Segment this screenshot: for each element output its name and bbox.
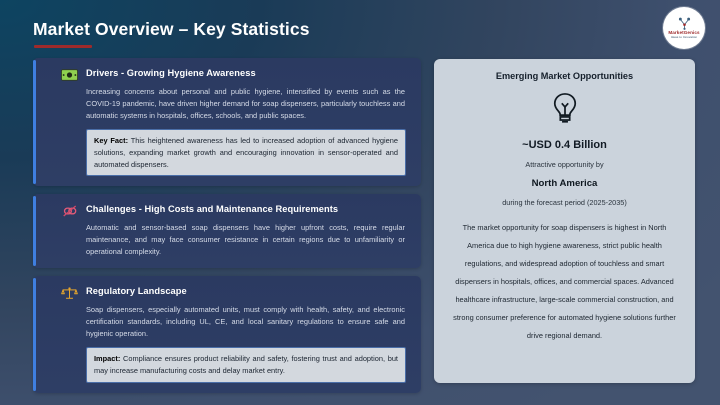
key-fact-callout: Key Fact: This heightened awareness has … [86, 129, 406, 177]
card-header: Drivers - Growing Hygiene Awareness [61, 67, 409, 82]
card-drivers[interactable]: Drivers - Growing Hygiene Awareness Incr… [33, 58, 421, 186]
card-body: Automatic and sensor-based soap dispense… [61, 222, 409, 258]
market-value: ~USD 0.4 Billion [522, 139, 607, 151]
card-title: Challenges - High Costs and Maintenance … [86, 203, 338, 214]
page-title: Market Overview – Key Statistics [33, 19, 310, 40]
card-header: Regulatory Landscape [61, 285, 409, 300]
logo-tagline: Ideas to Innovation [671, 36, 697, 39]
panel-paragraph: The market opportunity for soap dispense… [448, 219, 681, 344]
card-body: Increasing concerns about personal and p… [61, 86, 409, 122]
region-name: North America [532, 178, 598, 189]
card-challenges[interactable]: Challenges - High Costs and Maintenance … [33, 194, 421, 268]
slide-root: Market Overview – Key Statistics MarketG… [0, 0, 720, 405]
lightbulb-icon [552, 92, 578, 130]
callout-label: Key Fact: [94, 136, 128, 145]
broken-link-icon [61, 203, 78, 218]
insight-cards-column: Drivers - Growing Hygiene Awareness Incr… [33, 58, 421, 401]
card-header: Challenges - High Costs and Maintenance … [61, 203, 409, 218]
card-title: Drivers - Growing Hygiene Awareness [86, 67, 256, 78]
balance-scale-icon [61, 285, 78, 300]
opportunity-subtitle: Attractive opportunity by [525, 160, 603, 169]
card-body: Soap dispensers, especially automated un… [61, 304, 409, 340]
money-banknote-icon [61, 67, 78, 82]
title-underline-rule [34, 45, 92, 48]
forecast-period: during the forecast period (2025-2035) [502, 198, 627, 207]
card-regulatory[interactable]: Regulatory Landscape Soap dispensers, es… [33, 276, 421, 393]
impact-callout: Impact: Compliance ensures product relia… [86, 347, 406, 383]
company-logo: MarketGenics Ideas to Innovation [663, 7, 705, 49]
callout-label: Impact: [94, 354, 120, 363]
emerging-opportunities-panel: Emerging Market Opportunities ~USD 0.4 B… [434, 59, 695, 383]
card-title: Regulatory Landscape [86, 285, 187, 296]
network-node-icon [677, 17, 692, 30]
panel-title: Emerging Market Opportunities [496, 71, 633, 81]
callout-text: Compliance ensures product reliability a… [94, 354, 398, 375]
callout-text: This heightened awareness has led to inc… [94, 136, 398, 169]
